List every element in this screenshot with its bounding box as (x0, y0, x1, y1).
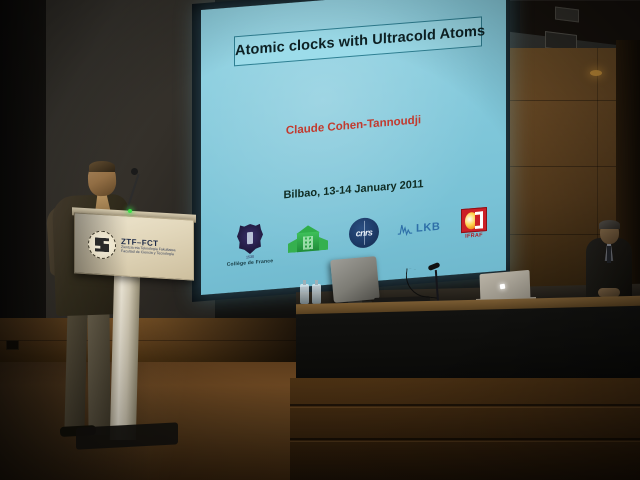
ifraf-icon (461, 207, 487, 233)
podium-sign-text: ZTF–FCT Zientzia eta Teknologia Fakultat… (121, 238, 175, 258)
building-body (297, 232, 319, 253)
desk-front-panel (296, 306, 640, 386)
ens-building-icon (288, 224, 328, 253)
lecture-hall-photo: Atomic clocks with Ultracold Atoms Claud… (0, 0, 640, 480)
projection-screen: Atomic clocks with Ultracold Atoms Claud… (201, 0, 506, 295)
podium-sign: ZTF–FCT Zientzia eta Teknologia Fakultat… (88, 226, 188, 268)
ceiling-vent-secondary-icon (555, 7, 579, 23)
microphone-led-icon (128, 209, 132, 213)
attendee-tie (607, 246, 611, 263)
laptop-logo-icon (500, 284, 506, 290)
speaker-leg-right (87, 305, 110, 435)
cnrs-wordmark: cnrs (356, 227, 373, 238)
college-de-france-icon (237, 223, 263, 255)
lkb-label: LKB (416, 221, 440, 235)
water-bottle (312, 284, 321, 304)
speaker-leg-left (64, 305, 87, 433)
stage-steps (290, 378, 640, 480)
podium-sign-sub-spanish: Facultad de Ciencia y Tecnología (121, 250, 175, 257)
cnrs-icon: cnrs (349, 217, 379, 249)
step-edge (290, 404, 640, 406)
logo-college-de-france: 1530 Collège de France (219, 222, 281, 269)
stage-wall-shading (0, 318, 300, 366)
logo-ifraf: IFRAF (456, 207, 492, 241)
podium-column (110, 272, 140, 440)
building-wing-right (318, 236, 328, 251)
waveform-icon (397, 221, 413, 238)
ceiling-downlight-icon (590, 70, 602, 76)
logo-ens-building (279, 223, 337, 254)
step-edge (290, 438, 640, 440)
speaker-hair (89, 161, 115, 172)
ehu-upv-emblem-icon (88, 230, 116, 260)
podium-microphone-icon (131, 168, 138, 175)
logo-cnrs: cnrs (343, 216, 385, 249)
computer-monitor[interactable] (330, 256, 380, 303)
step-highlight (290, 407, 640, 408)
water-bottles (300, 282, 326, 304)
water-bottle (300, 284, 309, 304)
left-wall-shadow (0, 0, 46, 340)
step-highlight (290, 441, 640, 442)
attendee-hair (599, 220, 620, 229)
logo-lkb: LKB (397, 217, 459, 238)
